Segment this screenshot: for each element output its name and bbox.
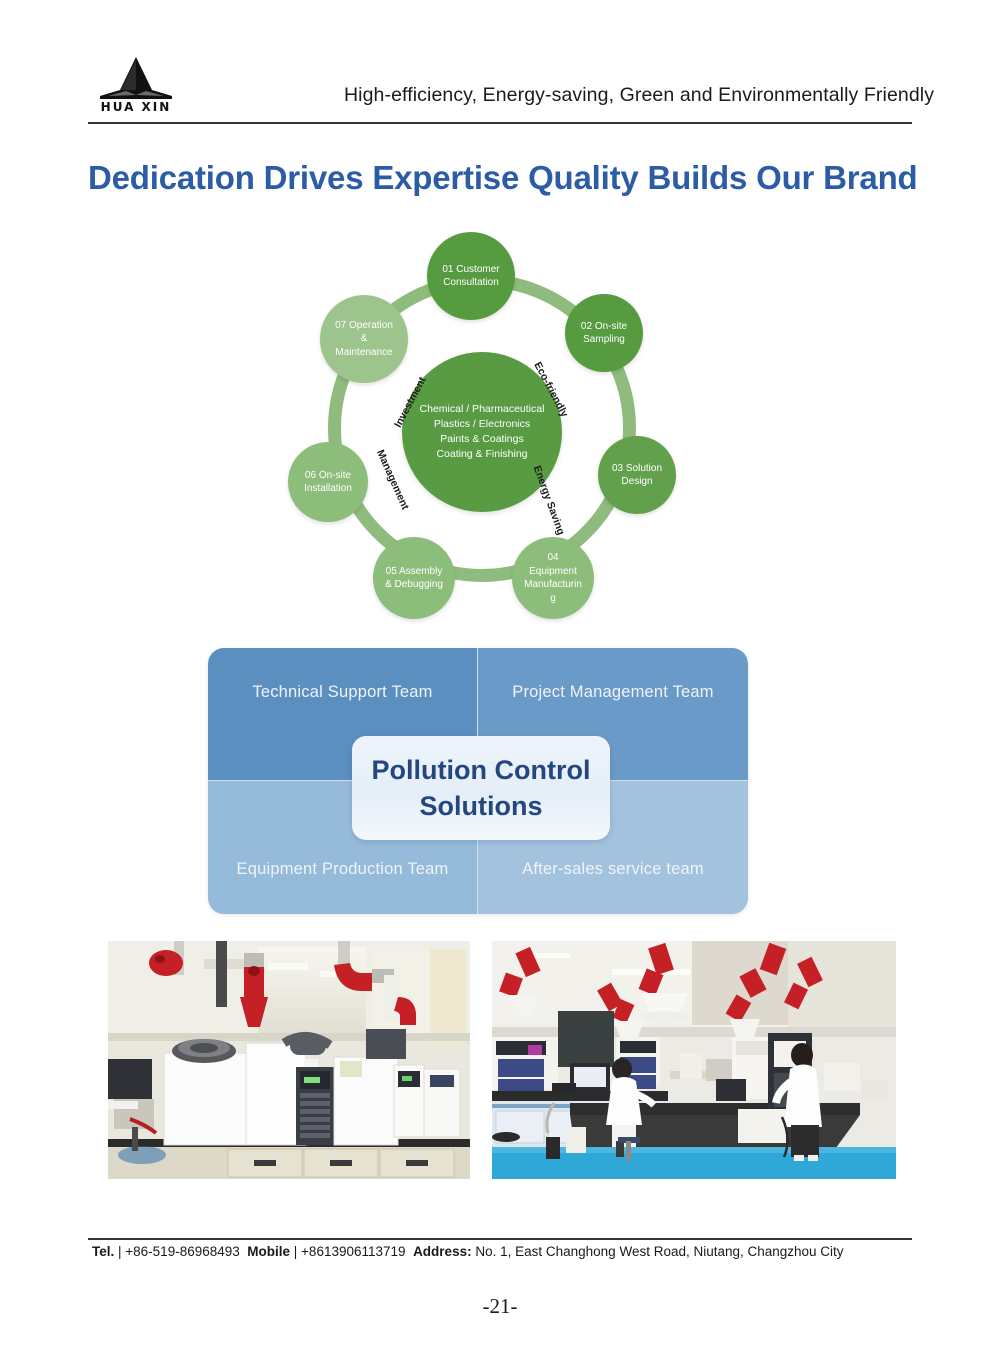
laboratory-instruments-photo: [108, 941, 470, 1179]
company-logo: HUA XIN: [88, 56, 184, 118]
cycle-node-07: 07 Operation & Maintenance: [320, 295, 408, 383]
footer-mobile-label: Mobile: [247, 1244, 290, 1259]
page-title: Dedication Drives Expertise Quality Buil…: [88, 159, 918, 197]
cycle-node-01-label: 01 Customer Consultation: [442, 263, 499, 290]
huaxin-triangle-icon: [96, 56, 176, 102]
cycle-node-02-label: 02 On-site Sampling: [581, 320, 627, 347]
cycle-node-03: 03 Solution Design: [598, 436, 676, 514]
cycle-node-07-label: 07 Operation & Maintenance: [335, 319, 393, 360]
cycle-node-05-label: 05 Assembly & Debugging: [385, 565, 443, 592]
header-tagline: High-efficiency, Energy-saving, Green an…: [344, 84, 934, 107]
footer-address-label: Address:: [413, 1244, 472, 1259]
quadrant-center-label: Pollution Control Solutions: [372, 752, 591, 824]
cycle-node-05: 05 Assembly & Debugging: [373, 537, 455, 619]
header-divider: [88, 122, 912, 124]
quadrant-center-callout: Pollution Control Solutions: [352, 736, 610, 840]
logo-wordmark: HUA XIN: [88, 100, 184, 114]
footer-divider: [88, 1238, 912, 1240]
cycle-node-04: 04 Equipment Manufacturin g: [512, 537, 594, 619]
footer-mobile-value: +8613906113719: [301, 1244, 406, 1259]
cycle-node-02: 02 On-site Sampling: [565, 294, 643, 372]
cycle-hub-label: Chemical / Pharmaceutical Plastics / Ele…: [414, 402, 551, 462]
cycle-node-06-label: 06 On-site Installation: [304, 469, 352, 496]
footer-tel-label: Tel.: [92, 1244, 114, 1259]
footer-contact-line: Tel. | +86-519-86968493 Mobile | +861390…: [92, 1244, 922, 1259]
cycle-node-04-label: 04 Equipment Manufacturin g: [524, 551, 582, 605]
process-cycle-diagram: Chemical / Pharmaceutical Plastics / Ele…: [280, 232, 700, 622]
cycle-node-01: 01 Customer Consultation: [427, 232, 515, 320]
page-header: HUA XIN High-efficiency, Energy-saving, …: [0, 0, 1000, 130]
cycle-node-06: 06 On-site Installation: [288, 442, 368, 522]
cycle-node-03-label: 03 Solution Design: [612, 462, 662, 489]
footer-tel-value: +86-519-86968493: [125, 1244, 239, 1259]
footer-address-value: No. 1, East Changhong West Road, Niutang…: [475, 1244, 843, 1259]
page-number: -21-: [0, 1294, 1000, 1319]
laboratory-technicians-photo: [492, 941, 896, 1179]
